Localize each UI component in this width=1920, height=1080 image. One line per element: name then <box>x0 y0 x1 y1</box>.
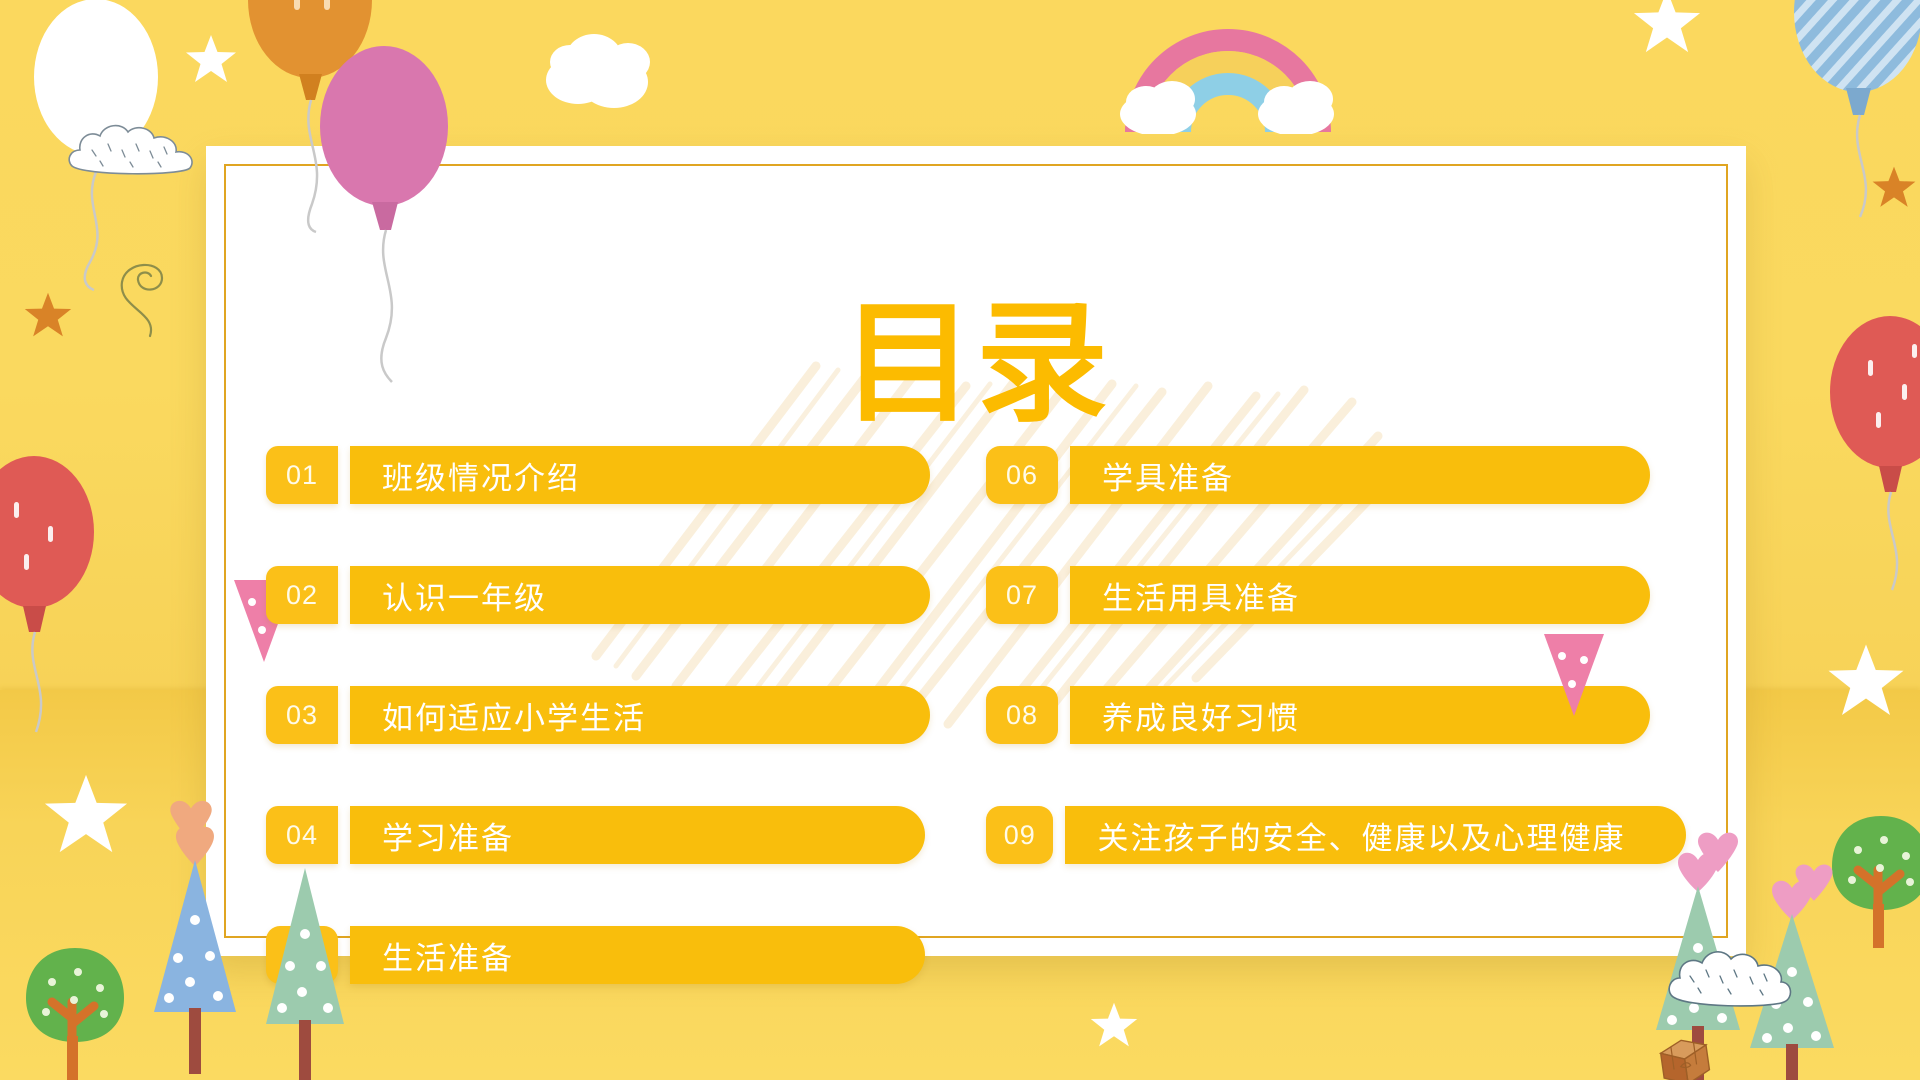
toc-item-06[interactable]: 06 学具准备 <box>986 446 1686 504</box>
toc-item-02[interactable]: 02 认识一年级 <box>266 566 966 624</box>
toc-number-badge: 03 <box>266 686 338 744</box>
toc-label: 学习准备 <box>350 806 925 864</box>
toc-label: 生活准备 <box>350 926 925 984</box>
toc-number-badge: 02 <box>266 566 338 624</box>
toc-number-badge: 01 <box>266 446 338 504</box>
table-of-contents: 01 班级情况介绍 02 认识一年级 03 如何适应小学生活 04 学习准备 0… <box>266 446 1686 926</box>
toc-item-08[interactable]: 08 养成良好习惯 <box>986 686 1686 744</box>
toc-label: 认识一年级 <box>350 566 930 624</box>
page-title: 目录 <box>206 298 1746 430</box>
content-card: 目录 01 班级情况介绍 02 认识一年级 03 如何适应小学生活 04 <box>206 146 1746 956</box>
toc-number-badge: 06 <box>986 446 1058 504</box>
toc-label: 班级情况介绍 <box>350 446 930 504</box>
toc-column-left: 01 班级情况介绍 02 认识一年级 03 如何适应小学生活 04 学习准备 0… <box>266 446 966 1046</box>
toc-number-badge: 04 <box>266 806 338 864</box>
gift-box-icon <box>1654 1032 1716 1080</box>
toc-item-03[interactable]: 03 如何适应小学生活 <box>266 686 966 744</box>
toc-column-right: 06 学具准备 07 生活用具准备 08 养成良好习惯 09 关注孩子的安全、健… <box>986 446 1686 926</box>
toc-label: 生活用具准备 <box>1070 566 1650 624</box>
toc-item-07[interactable]: 07 生活用具准备 <box>986 566 1686 624</box>
toc-label: 关注孩子的安全、健康以及心理健康 <box>1065 806 1686 864</box>
toc-number-badge: 07 <box>986 566 1058 624</box>
toc-item-05[interactable]: 05 生活准备 <box>266 926 966 984</box>
toc-label: 学具准备 <box>1070 446 1650 504</box>
toc-label: 养成良好习惯 <box>1070 686 1650 744</box>
cloud-outline-bottom-right <box>1664 944 1796 1016</box>
toc-number-badge: 08 <box>986 686 1058 744</box>
toc-item-01[interactable]: 01 班级情况介绍 <box>266 446 966 504</box>
toc-item-09[interactable]: 09 关注孩子的安全、健康以及心理健康 <box>986 806 1686 864</box>
toc-item-04[interactable]: 04 学习准备 <box>266 806 966 864</box>
toc-number-badge: 09 <box>986 806 1053 864</box>
presentation-slide: 目录 01 班级情况介绍 02 认识一年级 03 如何适应小学生活 04 <box>0 0 1920 1080</box>
toc-label: 如何适应小学生活 <box>350 686 930 744</box>
toc-number-badge: 05 <box>266 926 338 984</box>
